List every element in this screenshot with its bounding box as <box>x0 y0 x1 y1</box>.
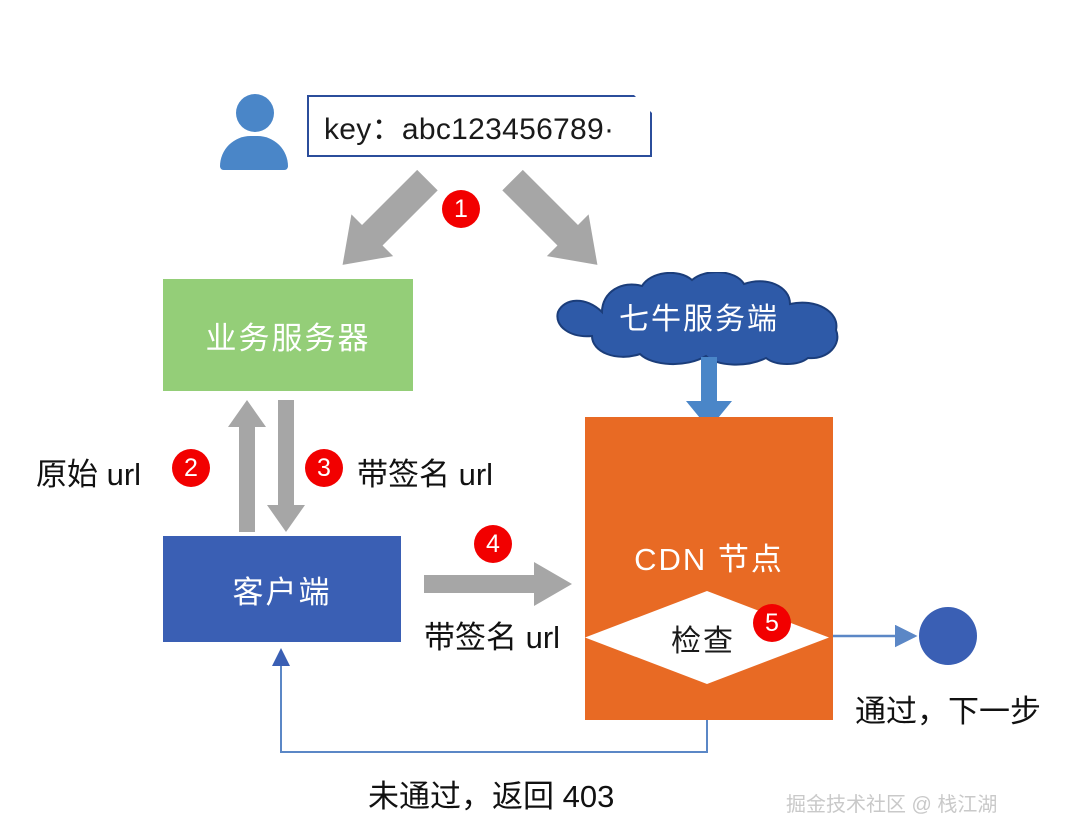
node-biz-server[interactable]: 业务服务器 <box>163 279 413 391</box>
label-signed-url-step4: 带签名 url <box>424 612 560 657</box>
node-qiniu-cloud-label: 七牛服务端 <box>619 294 779 338</box>
arrow-biz-server-to-client <box>267 400 305 532</box>
node-client-label: 客户端 <box>233 567 332 612</box>
arrow-to-biz-server <box>325 175 445 270</box>
node-next-step-circle[interactable] <box>919 607 977 665</box>
step-badge-2: 2 <box>172 449 210 487</box>
key-callout-box: key：abc123456789· <box>307 95 652 157</box>
diagram-canvas: key：abc123456789· 1 业务服务器 七牛服务端 <box>0 0 1074 836</box>
decision-check[interactable]: 检查 <box>585 591 829 684</box>
node-qiniu-cloud[interactable]: 七牛服务端 <box>540 272 858 366</box>
label-pass-next-step: 通过，下一步 <box>855 686 1041 731</box>
decision-check-label: 检查 <box>585 591 829 684</box>
person-icon <box>218 94 290 170</box>
arrow-client-to-cdn <box>424 562 572 606</box>
label-original-url: 原始 url <box>36 449 141 494</box>
step-badge-3: 3 <box>305 449 343 487</box>
node-client[interactable]: 客户端 <box>163 536 401 642</box>
callout-text: key：abc123456789· <box>307 95 652 157</box>
step-badge-1: 1 <box>442 190 480 228</box>
label-signed-url-step3: 带签名 url <box>357 449 493 494</box>
watermark: 掘金技术社区 @ 栈江湖 <box>786 788 997 817</box>
node-biz-server-label: 业务服务器 <box>206 313 371 358</box>
step-badge-4: 4 <box>474 525 512 563</box>
label-fail-403: 未通过，返回 403 <box>368 771 614 816</box>
step-badge-5: 5 <box>753 604 791 642</box>
arrow-client-to-biz-server <box>228 400 266 532</box>
person-body <box>220 136 288 170</box>
person-head <box>236 94 274 132</box>
node-cdn-label: CDN 节点 <box>634 534 784 579</box>
arrow-to-qiniu-cloud <box>495 175 615 270</box>
